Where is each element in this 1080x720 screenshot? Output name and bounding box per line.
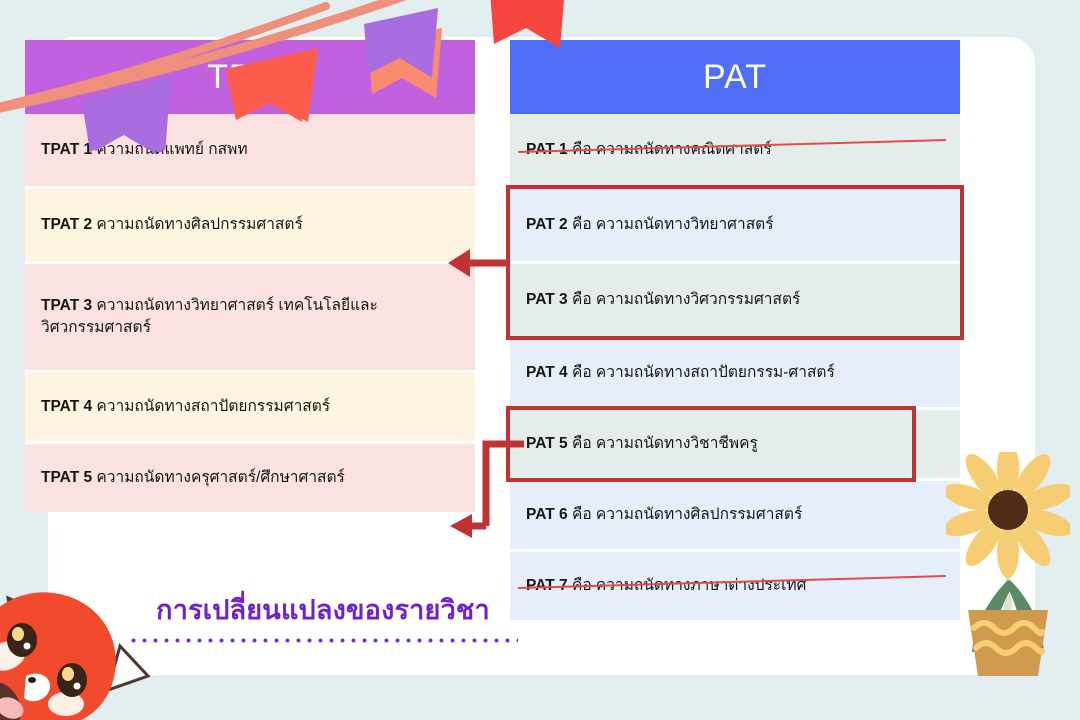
pat-row-3: PAT 3 คือ ความถนัดทางวิศวกรรมศาสตร์: [510, 264, 960, 336]
pat-row-text: คือ ความถนัดทางสถาปัตยกรรม-ศาสตร์: [572, 364, 835, 381]
tpat-row-content: TPAT 1 ความถนัดแพทย์ กสพท: [41, 139, 248, 161]
pat-column: PAT PAT 1 คือ ความถนัดทางคณิตศาสตร์PAT 2…: [510, 40, 960, 620]
pat-column-header: PAT: [510, 40, 960, 114]
pat-row-number: PAT 6: [526, 506, 568, 523]
pat-row-1: PAT 1 คือ ความถนัดทางคณิตศาสตร์: [510, 114, 960, 186]
tpat-row-number: TPAT 5: [41, 469, 92, 486]
pat-row-text: คือ ความถนัดทางวิชาชีพครู: [572, 435, 758, 452]
pat-row-number: PAT 4: [526, 364, 568, 381]
pat-row-content: PAT 3 คือ ความถนัดทางวิศวกรรมศาสตร์: [526, 289, 800, 311]
tpat-row-list: TPAT 1 ความถนัดแพทย์ กสพทTPAT 2 ความถนัด…: [25, 114, 475, 512]
tpat-row-number: TPAT 3: [41, 297, 92, 314]
caption-text: การเปลี่ยนแปลงของรายวิชา: [128, 588, 518, 631]
pat-row-7: PAT 7 คือ ความถนัดทางภาษาต่างประเทศ: [510, 552, 960, 620]
tpat-row-1: TPAT 1 ความถนัดแพทย์ กสพท: [25, 114, 475, 186]
pat-row-number: PAT 2: [526, 216, 568, 233]
tpat-row-text: ความถนัดทางครุศาสตร์/ศึกษาศาสตร์: [96, 469, 344, 486]
tpat-row-content: TPAT 2 ความถนัดทางศิลปกรรมศาสตร์: [41, 214, 303, 236]
pat-row-6: PAT 6 คือ ความถนัดทางศิลปกรรมศาสตร์: [510, 481, 960, 549]
pat-title: PAT: [703, 58, 767, 97]
tpat-row-text: ความถนัดทางศิลปกรรมศาสตร์: [96, 216, 302, 233]
tpat-row-5: TPAT 5 ความถนัดทางครุศาสตร์/ศึกษาศาสตร์: [25, 444, 475, 512]
tpat-row-content: TPAT 4 ความถนัดทางสถาปัตยกรรมศาสตร์: [41, 396, 330, 418]
pat-row-text: คือ ความถนัดทางวิทยาศาสตร์: [572, 216, 774, 233]
pat-row-text: คือ ความถนัดทางศิลปกรรมศาสตร์: [572, 506, 802, 523]
tpat-row-content: TPAT 3 ความถนัดทางวิทยาศาสตร์ เทคโนโลยีแ…: [41, 295, 459, 340]
pat-row-content: PAT 6 คือ ความถนัดทางศิลปกรรมศาสตร์: [526, 504, 802, 526]
pat-row-5: PAT 5 คือ ความถนัดทางวิชาชีพครู: [510, 410, 960, 478]
tpat-row-2: TPAT 2 ความถนัดทางศิลปกรรมศาสตร์: [25, 189, 475, 261]
caption-block: การเปลี่ยนแปลงของรายวิชา: [128, 588, 518, 643]
pat-row-2: PAT 2 คือ ความถนัดทางวิทยาศาสตร์: [510, 189, 960, 261]
tpat-column: TPAT TPAT 1 ความถนัดแพทย์ กสพทTPAT 2 ควา…: [25, 40, 475, 512]
tpat-row-text: ความถนัดทางสถาปัตยกรรมศาสตร์: [96, 398, 330, 415]
tpat-row-4: TPAT 4 ความถนัดทางสถาปัตยกรรมศาสตร์: [25, 373, 475, 441]
pat-row-number: PAT 5: [526, 435, 568, 452]
tpat-row-text: ความถนัดแพทย์ กสพท: [96, 141, 247, 158]
pat-row-text: คือ ความถนัดทางวิศวกรรมศาสตร์: [572, 291, 800, 308]
pat-row-number: PAT 3: [526, 291, 568, 308]
tpat-title: TPAT: [207, 58, 293, 97]
pat-row-content: PAT 4 คือ ความถนัดทางสถาปัตยกรรม-ศาสตร์: [526, 362, 835, 384]
tpat-row-number: TPAT 4: [41, 398, 92, 415]
pat-row-content: PAT 5 คือ ความถนัดทางวิชาชีพครู: [526, 433, 758, 455]
tpat-column-header: TPAT: [25, 40, 475, 114]
tpat-row-number: TPAT 2: [41, 216, 92, 233]
caption-dotted-rule: [128, 638, 518, 643]
tpat-row-number: TPAT 1: [41, 141, 92, 158]
pat-row-4: PAT 4 คือ ความถนัดทางสถาปัตยกรรม-ศาสตร์: [510, 339, 960, 407]
pat-row-content: PAT 2 คือ ความถนัดทางวิทยาศาสตร์: [526, 214, 774, 236]
pat-row-list: PAT 1 คือ ความถนัดทางคณิตศาสตร์PAT 2 คือ…: [510, 114, 960, 620]
tpat-row-content: TPAT 5 ความถนัดทางครุศาสตร์/ศึกษาศาสตร์: [41, 467, 345, 489]
tpat-row-3: TPAT 3 ความถนัดทางวิทยาศาสตร์ เทคโนโลยีแ…: [25, 264, 475, 370]
tpat-row-text: ความถนัดทางวิทยาศาสตร์ เทคโนโลยีและวิศวก…: [41, 297, 378, 336]
